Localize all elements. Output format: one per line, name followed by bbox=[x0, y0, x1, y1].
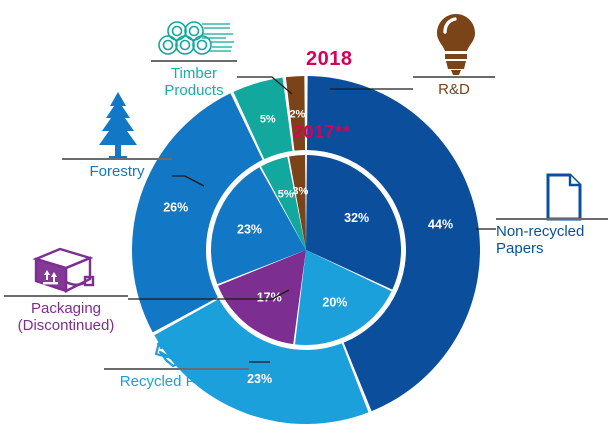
inner-label-recycled-papers: 20% bbox=[322, 296, 347, 310]
inner-label-packaging: 17% bbox=[257, 290, 282, 304]
inner-pie-2017: 32%20%17%23%5%3% bbox=[211, 155, 401, 345]
inner-label-r-d: 3% bbox=[292, 185, 308, 197]
callout-rule-forestry bbox=[62, 158, 172, 160]
logs-icon bbox=[152, 18, 238, 60]
inner-label-forestry: 23% bbox=[237, 223, 262, 237]
callout-non-recycled-line1: Non-recycled bbox=[496, 223, 608, 240]
callout-recycled-line1: Recycled Papers bbox=[104, 373, 249, 390]
inner-label-non-recycled-papers: 32% bbox=[344, 211, 369, 225]
outer-label-timber-products: 5% bbox=[260, 113, 276, 125]
callout-rule-rnd bbox=[413, 76, 495, 78]
recycle-icon bbox=[146, 318, 208, 368]
callout-rule-recycled bbox=[104, 368, 249, 370]
callout-rule-timber bbox=[151, 60, 237, 62]
callout-timber-line2: Products bbox=[151, 82, 237, 99]
callout-recycled-papers[interactable]: Recycled Papers bbox=[104, 368, 249, 390]
callout-forestry-line1: Forestry bbox=[62, 163, 172, 180]
callout-rule-non-recycled bbox=[496, 218, 608, 220]
outer-label-r-d: 2% bbox=[289, 108, 305, 120]
callout-rnd[interactable]: R&D bbox=[413, 76, 495, 98]
callout-packaging[interactable]: Packaging (Discontinued) bbox=[4, 295, 128, 334]
pine-tree-icon bbox=[92, 90, 144, 160]
outer-label-non-recycled-papers: 44% bbox=[428, 217, 453, 231]
callout-non-recycled-line2: Papers bbox=[496, 240, 608, 257]
callout-packaging-line2: (Discontinued) bbox=[4, 317, 128, 334]
year-label-outer: 2018 bbox=[306, 48, 353, 71]
callout-timber-line1: Timber bbox=[151, 65, 237, 82]
document-page-icon bbox=[543, 172, 585, 222]
callout-forestry[interactable]: Forestry bbox=[62, 158, 172, 180]
callout-rnd-line1: R&D bbox=[413, 81, 495, 98]
outer-label-recycled-papers: 23% bbox=[247, 372, 272, 386]
callout-timber-products[interactable]: Timber Products bbox=[151, 60, 237, 99]
infographic-canvas: 44%23%26%5%2% 32%20%17%23%5%3% bbox=[0, 0, 611, 441]
callout-non-recycled-papers[interactable]: Non-recycled Papers bbox=[496, 218, 608, 257]
year-label-inner: 2017** bbox=[293, 122, 350, 143]
callout-packaging-line1: Packaging bbox=[4, 300, 128, 317]
lightbulb-icon bbox=[434, 12, 478, 76]
package-box-icon bbox=[30, 245, 102, 295]
outer-label-forestry: 26% bbox=[163, 201, 188, 215]
callout-rule-packaging bbox=[4, 295, 128, 297]
